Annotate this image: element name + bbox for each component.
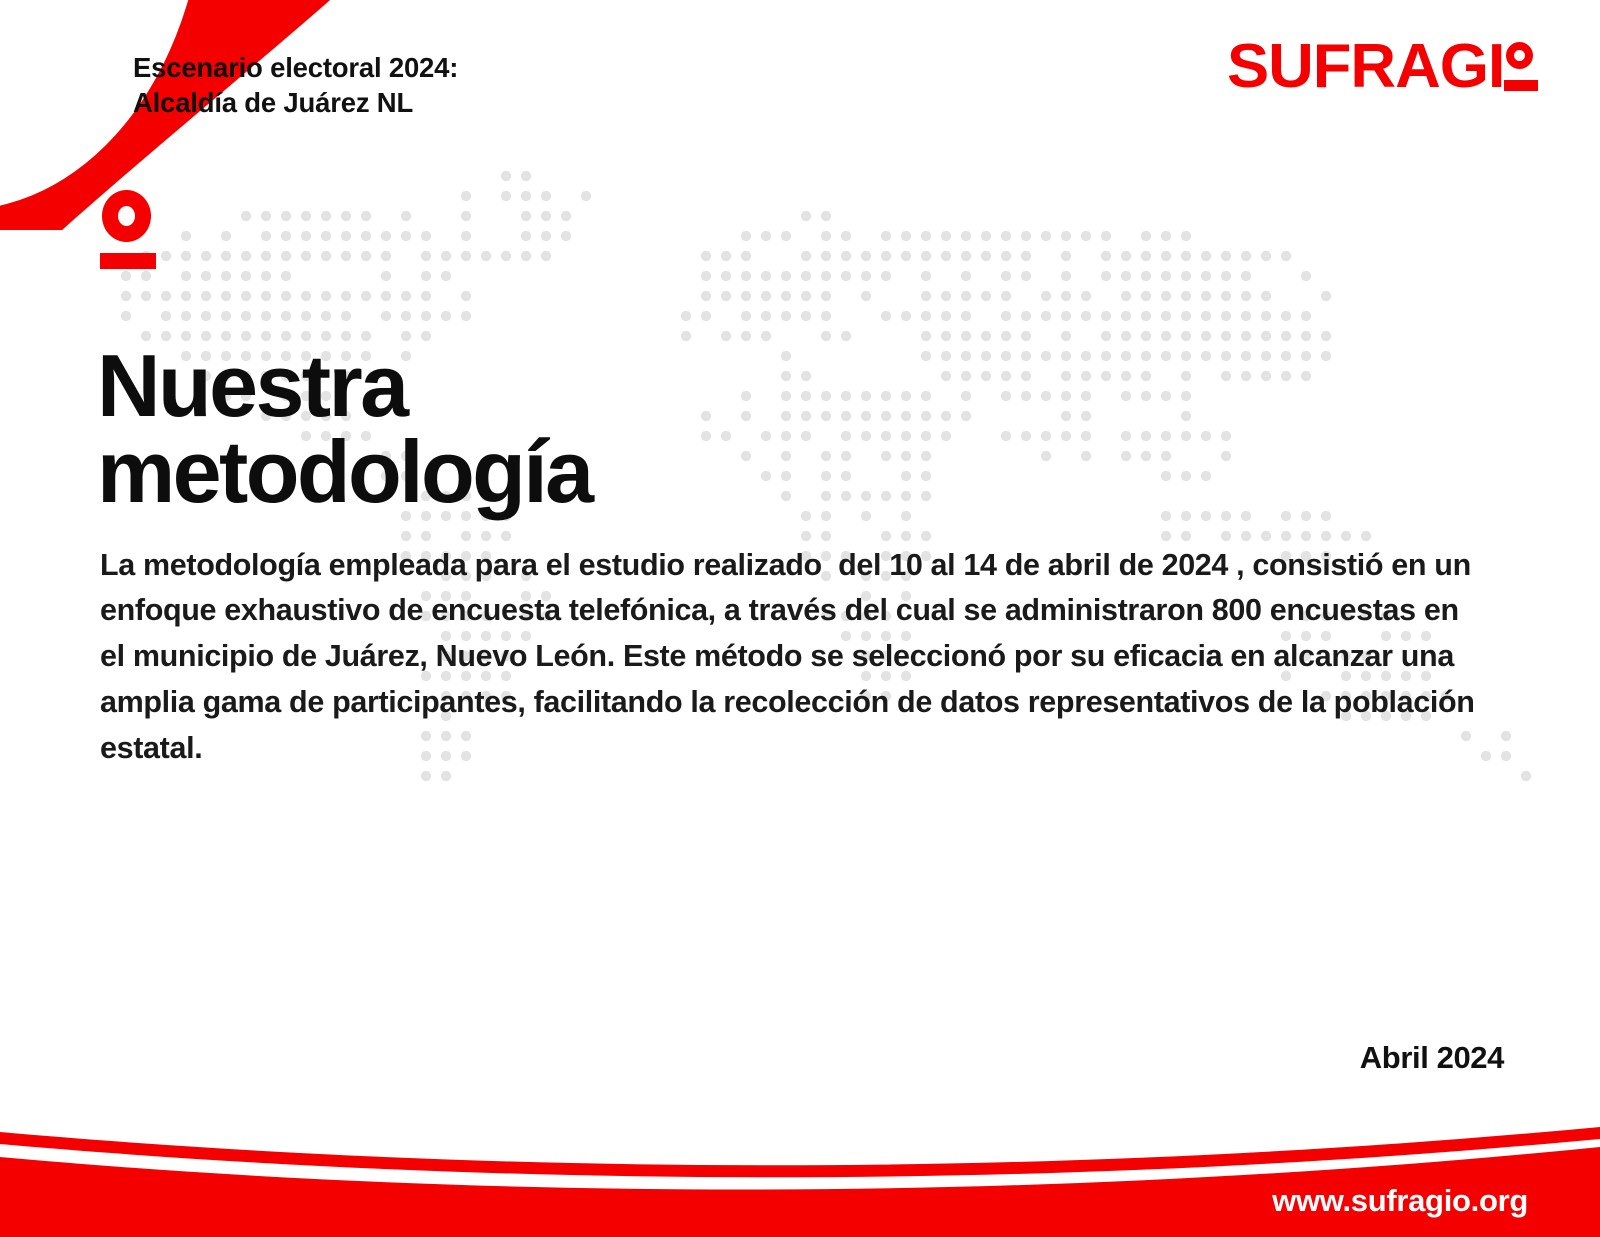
page-title: Escenario electoral 2024: Alcaldía de Ju… xyxy=(133,50,458,120)
brand-logo-wordmark: SUFRAGI xyxy=(1227,38,1504,97)
slide-canvas: Escenario electoral 2024: Alcaldía de Ju… xyxy=(0,0,1600,1237)
ordinal-o-icon xyxy=(1504,38,1538,100)
date-label: Abril 2024 xyxy=(1360,1040,1504,1076)
ordinal-o-accent-icon xyxy=(100,190,156,276)
section-headline: Nuestra metodología xyxy=(97,343,592,515)
methodology-paragraph: La metodología empleada para el estudio … xyxy=(100,543,1480,772)
brand-logo: SUFRAGI xyxy=(1227,38,1538,100)
footer-website-url[interactable]: www.sufragio.org xyxy=(1272,1183,1528,1219)
